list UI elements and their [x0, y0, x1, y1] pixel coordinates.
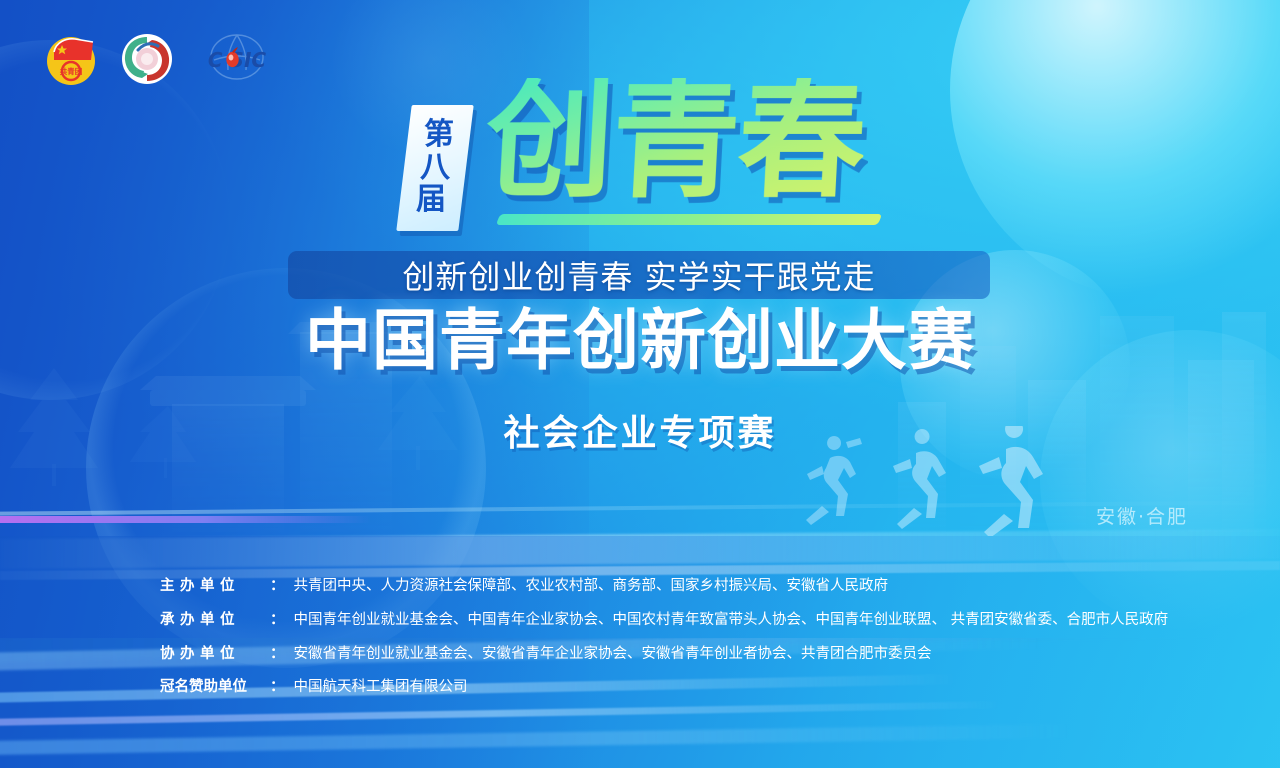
- sponsor-logo-row: 共青团 C SI: [42, 30, 280, 88]
- edition-badge-char-1: 八: [420, 153, 450, 184]
- credit-value: 中国航天科工集团有限公司: [294, 677, 1280, 699]
- page-title: 中国青年创新创业大赛: [240, 308, 1040, 374]
- svg-text:共青团: 共青团: [60, 66, 83, 76]
- slogan-banner: 创新创业创青春 实学实干跟党走: [288, 251, 990, 299]
- brand-wordmark: 创青春: [483, 78, 868, 206]
- casic-logo-icon: C SIC: [194, 30, 280, 88]
- credit-colon: ：: [270, 608, 285, 629]
- slogan-text: 创新创业创青春 实学实干跟党走: [402, 252, 875, 298]
- credits-list: 主办单位 ： 共青团中央、人力资源社会保障部、农业农村部、商务部、国家乡村振兴局…: [0, 566, 1280, 699]
- edition-badge-char-2: 届: [416, 185, 446, 216]
- credit-value: 共青团中央、人力资源社会保障部、农业农村部、商务部、国家乡村振兴局、安徽省人民政…: [294, 576, 1280, 598]
- venue-label: 安徽·合肥: [1096, 502, 1188, 529]
- credit-row: 冠名赞助单位 ： 中国航天科工集团有限公司: [0, 675, 1280, 699]
- edition-badge-char-0: 第: [424, 120, 454, 151]
- sub-competition-title: 社会企业专项赛: [240, 404, 1040, 456]
- streak-4: [0, 719, 1280, 756]
- streak-3: [0, 695, 1280, 727]
- credit-row: 承办单位 ： 中国青年创业就业基金会、中国青年企业家协会、中国农村青年致富带头人…: [0, 608, 1280, 632]
- credit-label: 冠名赞助单位: [160, 675, 270, 696]
- credit-label: 协办单位: [160, 642, 270, 663]
- credit-value: 安徽省青年创业就业基金会、安徽省青年企业家协会、安徽省青年创业者协会、共青团合肥…: [294, 644, 1280, 666]
- credit-row: 主办单位 ： 共青团中央、人力资源社会保障部、农业农村部、商务部、国家乡村振兴局…: [0, 574, 1280, 598]
- poster-canvas: 共青团 C SI: [0, 0, 1280, 768]
- credit-label: 承办单位: [160, 608, 270, 629]
- credit-row: 协办单位 ： 安徽省青年创业就业基金会、安徽省青年企业家协会、安徽省青年创业者协…: [0, 642, 1280, 666]
- communist-youth-league-emblem-icon: 共青团: [42, 30, 100, 88]
- credit-colon: ：: [270, 642, 285, 663]
- credit-value: 中国青年创业就业基金会、中国青年企业家协会、中国农村青年致富带头人协会、中国青年…: [294, 610, 1280, 632]
- youth-entrepreneurship-emblem-icon: [118, 30, 176, 88]
- credit-label: 主办单位: [160, 574, 270, 595]
- purple-accent-line: [0, 516, 372, 523]
- credit-colon: ：: [270, 574, 285, 595]
- brand-underline: [496, 214, 882, 225]
- credit-colon: ：: [270, 675, 285, 696]
